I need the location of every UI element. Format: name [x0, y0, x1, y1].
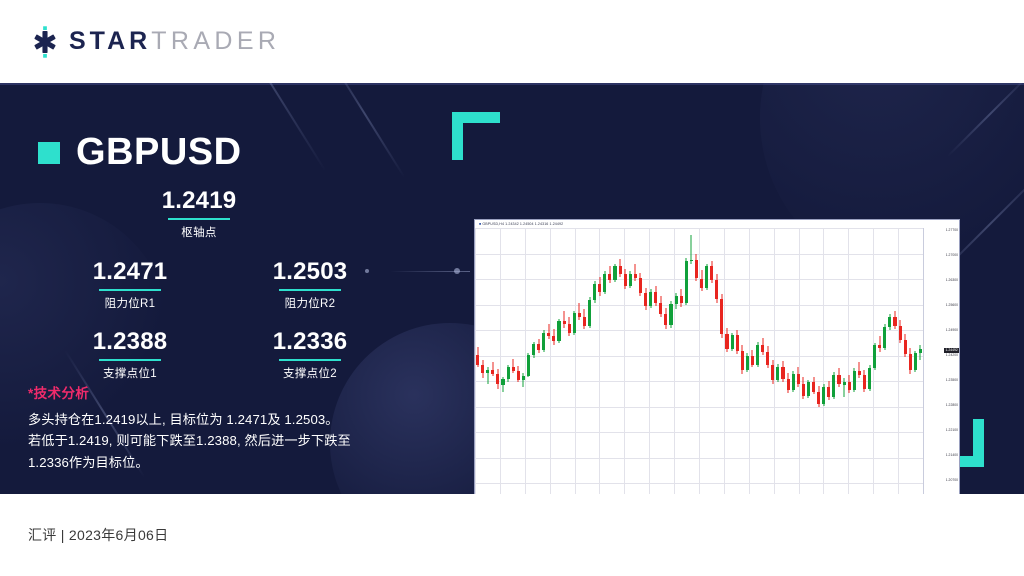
candlestick [491, 228, 494, 494]
candlestick [837, 228, 840, 494]
candle-body [512, 367, 515, 370]
level-resistance-2: 1.2503 阻力位R2 [250, 259, 370, 311]
candlestick [552, 228, 555, 494]
candle-body [807, 382, 810, 396]
candle-body [680, 296, 683, 302]
candlestick [736, 228, 739, 494]
candlestick [863, 228, 866, 494]
candle-wick [548, 324, 549, 339]
candle-body [568, 324, 571, 333]
candlestick [557, 228, 560, 494]
candle-body [792, 374, 795, 390]
candle-body [598, 284, 601, 292]
candlestick [720, 228, 723, 494]
candle-body [802, 384, 805, 396]
candlestick [608, 228, 611, 494]
candle-body [725, 334, 728, 349]
price-tick-label: 1.27700 [946, 229, 958, 232]
candlestick [542, 228, 545, 494]
candle-body [629, 274, 632, 286]
candle-body [552, 336, 555, 341]
candlestick [578, 228, 581, 494]
candlestick [634, 228, 637, 494]
analysis-body: 多头持仓在1.2419以上, 目标位为 1.2471及 1.2503。 若低于1… [28, 409, 400, 473]
candlestick [517, 228, 520, 494]
candlestick [613, 228, 616, 494]
level-resistance-2-label: 阻力位R2 [250, 295, 370, 311]
candle-body [557, 321, 560, 341]
candle-body [731, 335, 734, 349]
price-chart[interactable]: ■ GBPUSD,H4 1.24342 1.24504 1.24316 1.24… [474, 219, 960, 494]
candlestick [725, 228, 728, 494]
support-row: 1.2388 支撑点位1 1.2336 支撑点位2 [0, 329, 440, 381]
level-support-1-label: 支撑点位1 [70, 365, 190, 381]
candle-body [797, 374, 800, 384]
candle-body [817, 392, 820, 404]
candlestick [787, 228, 790, 494]
candle-body [751, 356, 754, 365]
candle-body [491, 370, 494, 374]
candlestick [619, 228, 622, 494]
candlestick [893, 228, 896, 494]
level-underline [279, 359, 341, 361]
candlestick [843, 228, 846, 494]
candle-body [736, 335, 739, 351]
candle-body [837, 375, 840, 385]
candle-body [868, 368, 871, 389]
brand-logo[interactable]: STAR TRADER [28, 25, 280, 59]
price-tick-label: 1.24900 [946, 329, 958, 332]
square-bullet-icon [38, 142, 60, 164]
candle-body [899, 326, 902, 340]
asterisk-star-icon [28, 25, 62, 59]
analysis-line-2: 若低于1.2419, 则可能下跌至1.2388, 然后进一步下跌至 [28, 430, 400, 451]
analysis-heading-text: 技术分析 [34, 386, 90, 401]
level-support-2: 1.2336 支撑点位2 [250, 329, 370, 381]
candlestick [568, 228, 571, 494]
candlestick [909, 228, 912, 494]
candlestick [832, 228, 835, 494]
candle-body [603, 274, 606, 292]
candle-body [827, 387, 830, 398]
candlestick [766, 228, 769, 494]
candlestick [669, 228, 672, 494]
candle-body [608, 274, 611, 280]
candlestick [527, 228, 530, 494]
resistance-row: 1.2471 阻力位R1 1.2503 阻力位R2 [0, 259, 440, 311]
candlestick [883, 228, 886, 494]
candle-body [690, 260, 693, 261]
candlestick [563, 228, 566, 494]
technical-analysis-section: *技术分析 多头持仓在1.2419以上, 目标位为 1.2471及 1.2503… [28, 382, 400, 473]
price-tick-label: 1.26300 [946, 279, 958, 282]
candlestick [603, 228, 606, 494]
chart-bracket-top-left [452, 112, 500, 160]
candle-body [588, 300, 591, 326]
candlestick [868, 228, 871, 494]
price-tick-label: 1.22800 [946, 404, 958, 407]
candle-body [715, 280, 718, 299]
candle-wick [513, 359, 514, 373]
analysis-heading: *技术分析 [28, 382, 400, 402]
price-tick-label: 1.22100 [946, 429, 958, 432]
candlestick [512, 228, 515, 494]
candle-body [904, 340, 907, 354]
candlestick [888, 228, 891, 494]
candle-body [781, 367, 784, 379]
candle-body [705, 266, 708, 287]
candlestick [507, 228, 510, 494]
candlestick [659, 228, 662, 494]
level-resistance-1-label: 阻力位R1 [70, 295, 190, 311]
currency-pair-heading: GBPUSD [38, 131, 242, 174]
candlestick [827, 228, 830, 494]
candle-body [517, 371, 520, 381]
candlestick [853, 228, 856, 494]
candle-body [710, 266, 713, 280]
candle-body [848, 382, 851, 391]
level-pivot-label: 枢轴点 [0, 224, 440, 240]
level-resistance-1-value: 1.2471 [70, 259, 190, 286]
candlestick [547, 228, 550, 494]
candlestick [812, 228, 815, 494]
candle-body [669, 304, 672, 325]
candle-body [522, 376, 525, 380]
candle-body [593, 284, 596, 300]
candle-body [756, 345, 759, 365]
candle-body [481, 365, 484, 373]
grid-line-vertical [749, 228, 750, 494]
candlestick [705, 228, 708, 494]
candlestick [654, 228, 657, 494]
candle-body [919, 349, 922, 353]
candlestick [741, 228, 744, 494]
candlestick [822, 228, 825, 494]
candle-body [675, 296, 678, 304]
candle-body [776, 367, 779, 381]
candlestick [771, 228, 774, 494]
candlestick [532, 228, 535, 494]
candlestick [761, 228, 764, 494]
analysis-line-3: 1.2336作为目标位。 [28, 452, 400, 473]
candle-body [883, 327, 886, 348]
candlestick [914, 228, 917, 494]
candle-body [619, 266, 622, 275]
brand-name-bold: STAR [69, 27, 151, 56]
level-pivot-value: 1.2419 [0, 188, 440, 215]
level-resistance-2-value: 1.2503 [250, 259, 370, 286]
candle-body [873, 345, 876, 368]
candle-body [812, 382, 815, 391]
footer-caption: 汇评 | 2023年6月06日 [28, 525, 168, 545]
main-banner: GBPUSD 1.2419 枢轴点 1.2471 阻力位R1 1.2503 [0, 83, 1024, 494]
candlestick [878, 228, 881, 494]
price-tick-label: 1.20700 [946, 479, 958, 482]
candlestick [802, 228, 805, 494]
candlestick [680, 228, 683, 494]
candlestick [700, 228, 703, 494]
price-tick-label: 1.27000 [946, 254, 958, 257]
candlestick [858, 228, 861, 494]
analysis-line-1: 多头持仓在1.2419以上, 目标位为 1.2471及 1.2503。 [28, 409, 400, 430]
candle-body [720, 299, 723, 334]
price-tick-label: 1.24200 [946, 354, 958, 357]
candle-body [664, 314, 667, 325]
candle-body [644, 293, 647, 305]
candlestick [776, 228, 779, 494]
candle-body [659, 303, 662, 314]
level-underline [168, 218, 230, 220]
deco-dot-2 [454, 268, 460, 274]
candle-wick [579, 303, 580, 320]
candle-body [542, 333, 545, 351]
candlestick [695, 228, 698, 494]
candlestick [690, 228, 693, 494]
candle-body [476, 355, 479, 365]
candlestick [501, 228, 504, 494]
candlestick [598, 228, 601, 494]
candlestick [797, 228, 800, 494]
candlestick [588, 228, 591, 494]
candle-body [843, 382, 846, 385]
candle-body [741, 351, 744, 370]
brand-name-light: TRADER [151, 27, 280, 56]
level-support-2-value: 1.2336 [250, 329, 370, 356]
candlestick [481, 228, 484, 494]
candlestick [919, 228, 922, 494]
candlestick [522, 228, 525, 494]
candlestick [731, 228, 734, 494]
candle-body [822, 387, 825, 404]
candlestick [715, 228, 718, 494]
level-pivot: 1.2419 枢轴点 [0, 188, 440, 240]
candlestick [756, 228, 759, 494]
candlestick [644, 228, 647, 494]
candlestick [624, 228, 627, 494]
candle-body [537, 344, 540, 351]
candle-body [507, 367, 510, 378]
price-tick-label: 1.21400 [946, 454, 958, 457]
candlestick [817, 228, 820, 494]
candle-body [761, 345, 764, 352]
candle-body [501, 379, 504, 385]
candle-body [787, 379, 790, 390]
candlestick [573, 228, 576, 494]
candle-body [613, 266, 616, 280]
candle-body [527, 355, 530, 376]
price-axis: 1.277001.270001.263001.256001.249001.242… [923, 228, 959, 494]
pivot-levels-group: 1.2419 枢轴点 1.2471 阻力位R1 1.2503 阻力位R2 [0, 188, 440, 399]
candle-body [649, 292, 652, 306]
candlestick [899, 228, 902, 494]
candlestick [685, 228, 688, 494]
candle-body [654, 292, 657, 303]
candle-body [624, 274, 627, 285]
level-support-1: 1.2388 支撑点位1 [70, 329, 190, 381]
candlestick [639, 228, 642, 494]
candle-body [486, 370, 489, 374]
page-footer: 汇评 | 2023年6月06日 [0, 494, 1024, 576]
price-tick-label: 1.23500 [946, 379, 958, 382]
candlestick [675, 228, 678, 494]
candle-body [914, 353, 917, 370]
level-underline [99, 289, 161, 291]
candlestick [781, 228, 784, 494]
candlestick [792, 228, 795, 494]
candle-body [700, 279, 703, 288]
left-info-panel: GBPUSD 1.2419 枢轴点 1.2471 阻力位R1 1.2503 [0, 83, 440, 494]
candle-body [853, 371, 856, 390]
candlestick [649, 228, 652, 494]
candle-body [532, 344, 535, 356]
price-tick-label: 1.25600 [946, 304, 958, 307]
current-price-tag: 1.24492 [944, 348, 959, 353]
candlestick [904, 228, 907, 494]
candle-body [863, 375, 866, 389]
level-underline [279, 289, 341, 291]
candle-body [888, 317, 891, 327]
candlestick [537, 228, 540, 494]
candlestick [476, 228, 479, 494]
candle-body [893, 317, 896, 326]
candlestick [848, 228, 851, 494]
candle-body [578, 313, 581, 317]
candle-wick [564, 311, 565, 327]
candle-body [639, 278, 642, 294]
candlestick [629, 228, 632, 494]
candle-body [685, 261, 688, 303]
level-resistance-1: 1.2471 阻力位R1 [70, 259, 190, 311]
candle-wick [635, 264, 636, 280]
candle-wick [879, 336, 880, 352]
candle-body [771, 365, 774, 380]
candle-body [695, 260, 698, 278]
candle-body [832, 375, 835, 398]
candlestick [873, 228, 876, 494]
grid-line-vertical [525, 228, 526, 494]
candlestick [664, 228, 667, 494]
level-underline [99, 359, 161, 361]
deco-streak-5 [947, 83, 1024, 157]
candle-body [547, 333, 550, 337]
candlestick [496, 228, 499, 494]
level-support-2-label: 支撑点位2 [250, 365, 370, 381]
page-header: STAR TRADER [0, 0, 1024, 83]
candle-body [909, 354, 912, 370]
candle-body [573, 313, 576, 333]
candle-body [634, 274, 637, 278]
level-support-1-value: 1.2388 [70, 329, 190, 356]
candle-body [878, 345, 881, 348]
chart-plot-area[interactable] [475, 228, 923, 494]
candlestick [583, 228, 586, 494]
candlestick [486, 228, 489, 494]
candle-body [858, 371, 861, 375]
candlestick [746, 228, 749, 494]
candle-body [563, 321, 566, 324]
chart-title-label: ■ GBPUSD,H4 1.24342 1.24504 1.24316 1.24… [475, 220, 959, 228]
candle-body [746, 356, 749, 370]
page-title: GBPUSD [76, 131, 242, 174]
candlestick [593, 228, 596, 494]
pivot-row: 1.2419 枢轴点 [0, 188, 440, 240]
candle-body [766, 352, 769, 366]
candlestick [807, 228, 810, 494]
candlestick [710, 228, 713, 494]
candlestick [751, 228, 754, 494]
candle-body [496, 374, 499, 385]
chart-title-text: GBPUSD,H4 1.24342 1.24504 1.24316 1.2449… [482, 222, 563, 226]
candle-body [583, 317, 586, 327]
